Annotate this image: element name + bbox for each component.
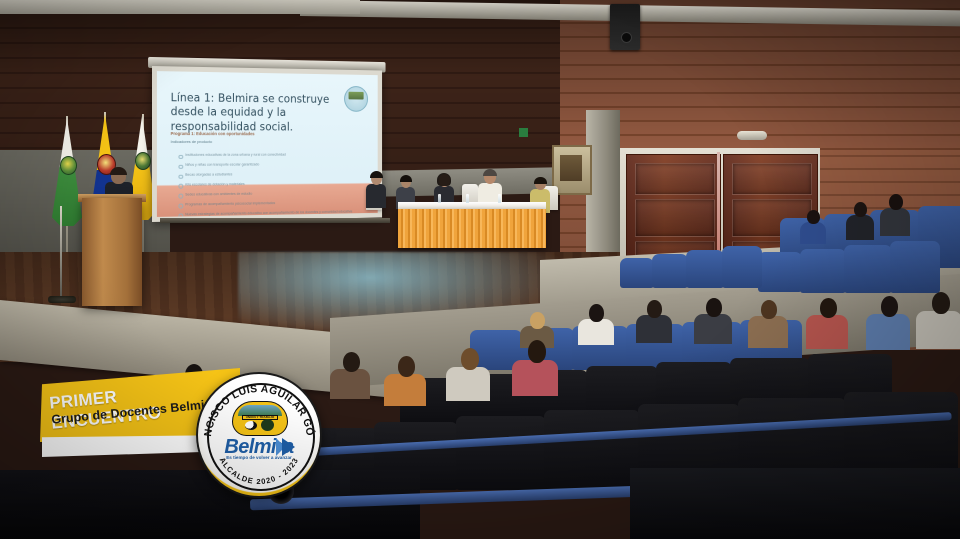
slide-title: Línea 1: Belmira se construye desde la e… xyxy=(171,91,336,134)
slide-logo-icon xyxy=(344,86,368,112)
slide-subtitle-2: Indicadores de producto xyxy=(171,139,312,145)
audience-member xyxy=(800,210,826,242)
audience-member xyxy=(384,356,426,402)
water-bottle-icon xyxy=(498,194,501,203)
audience-member xyxy=(512,340,558,394)
auditorium-photo: Línea 1: Belmira se construye desde la e… xyxy=(0,0,960,539)
screen-base-shadow xyxy=(160,218,390,223)
audience-member xyxy=(330,352,370,396)
audience-member xyxy=(880,194,910,234)
presentation-slide: Línea 1: Belmira se construye desde la e… xyxy=(157,71,378,217)
audience-member xyxy=(916,292,960,344)
screen-frame: Línea 1: Belmira se construye desde la e… xyxy=(152,66,382,222)
wall-speaker-icon xyxy=(610,4,640,50)
audience-member xyxy=(578,304,614,342)
panel-table-skirt xyxy=(398,209,546,248)
projection-screen: Línea 1: Belmira se construye desde la e… xyxy=(152,66,382,222)
wall-notice-frame xyxy=(552,145,592,195)
list-item: Becas otorgadas a estudiantes xyxy=(178,171,360,178)
microphone-base xyxy=(48,296,76,303)
slide-subtitle: Programa 1: Educación con oportunidades xyxy=(171,131,312,138)
list-item: Sedes educativas con ambientes de estudi… xyxy=(178,190,360,198)
wall-switch-icon xyxy=(519,128,528,137)
list-item: Programas de acompañamiento psicosocial … xyxy=(178,200,360,208)
water-bottle-icon xyxy=(466,194,469,203)
panelist xyxy=(366,172,386,206)
audience-member xyxy=(748,300,788,344)
list-item: Instituciones educativas de la zona urba… xyxy=(178,153,360,159)
audience-member xyxy=(846,202,874,238)
audience-member xyxy=(694,298,732,340)
wall-lamp-icon xyxy=(737,131,767,140)
list-item: Nuevas estrategias de acompañamiento edu… xyxy=(178,209,360,217)
seal-arc-bottom-text: ALCALDE 2020 - 2023 xyxy=(218,456,301,486)
slide-bullet-list: Instituciones educativas de la zona urba… xyxy=(178,153,360,217)
seal-arc-bottom-svg: ALCALDE 2020 - 2023 xyxy=(198,374,320,496)
audience-member xyxy=(446,348,490,398)
wooden-podium xyxy=(82,198,142,306)
audience-member xyxy=(806,298,848,344)
ceiling-beam-left xyxy=(0,0,360,14)
svg-text:ALCALDE 2020 - 2023: ALCALDE 2020 - 2023 xyxy=(218,456,301,486)
water-bottle-icon xyxy=(438,194,441,203)
belmira-mayor-seal: FRANCISCO LUIS AGUILAR GÓMEZ UNIÓN Y TRA… xyxy=(196,372,322,498)
list-item: Kits escolares de dotación y materiales xyxy=(178,181,360,188)
foreground-seat[interactable] xyxy=(630,468,960,539)
microphone-stand xyxy=(60,206,62,302)
audience-member xyxy=(636,300,672,340)
list-item: Niños y niñas con transporte escolar gar… xyxy=(178,162,360,168)
audience-member xyxy=(866,296,910,344)
